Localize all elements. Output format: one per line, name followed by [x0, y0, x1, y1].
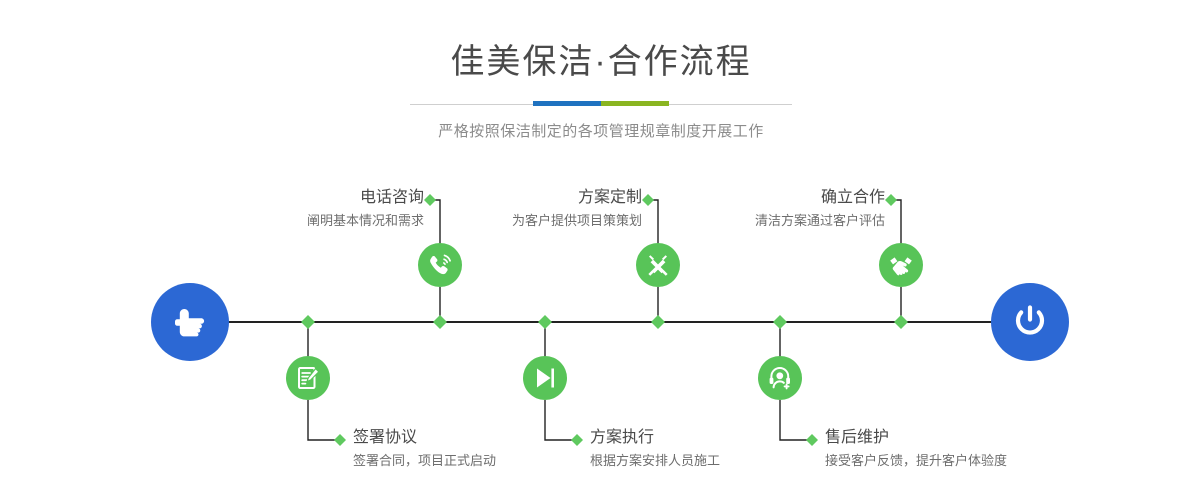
connector-lines [0, 0, 1202, 502]
customer-service-icon [765, 363, 795, 393]
step-node-3[interactable] [636, 243, 680, 287]
step-title: 电话咨询 [174, 188, 424, 208]
play-execute-icon [530, 363, 560, 393]
step-label-4: 方案执行 根据方案安排人员施工 [590, 428, 850, 470]
step-node-6[interactable] [758, 356, 802, 400]
axis-diamond [651, 315, 665, 329]
step-subtitle: 签署合同，项目正式启动 [353, 451, 613, 470]
timeline-diagram: 电话咨询 阐明基本情况和需求 方案定制 为客户提供项目策策划 确立合作 清洁方案… [0, 0, 1202, 502]
axis-diamond [301, 315, 315, 329]
axis-diamond [894, 315, 908, 329]
connector-step-2 [308, 400, 340, 440]
step-subtitle: 清洁方案通过客户评估 [635, 211, 885, 230]
power-icon [1008, 300, 1052, 344]
step-label-3: 方案定制 为客户提供项目策策划 [392, 188, 642, 230]
axis-diamond [773, 315, 787, 329]
step-subtitle: 为客户提供项目策策划 [392, 211, 642, 230]
step-label-6: 售后维护 接受客户反馈，提升客户体验度 [825, 428, 1105, 470]
pointing-hand-icon [168, 300, 212, 344]
step-title: 售后维护 [825, 428, 1105, 448]
step-title: 确立合作 [635, 188, 885, 208]
step-title: 方案定制 [392, 188, 642, 208]
sign-document-icon [293, 363, 323, 393]
process-flow-infographic: 佳美保洁·合作流程 严格按照保洁制定的各项管理规章制度开展工作 [0, 0, 1202, 502]
step-label-2: 签署协议 签署合同，项目正式启动 [353, 428, 613, 470]
step-node-1[interactable] [418, 243, 462, 287]
step-subtitle: 阐明基本情况和需求 [174, 211, 424, 230]
label-diamond-step-2 [334, 434, 346, 446]
flow-start-node[interactable] [151, 283, 229, 361]
step-subtitle: 根据方案安排人员施工 [590, 451, 850, 470]
step-title: 签署协议 [353, 428, 613, 448]
step-node-5[interactable] [879, 243, 923, 287]
label-diamond-step-5 [885, 194, 897, 206]
step-node-2[interactable] [286, 356, 330, 400]
phone-call-icon [425, 250, 455, 280]
label-diamonds [334, 194, 897, 446]
connector-step-5 [891, 200, 901, 244]
step-subtitle: 接受客户反馈，提升客户体验度 [825, 451, 1105, 470]
handshake-icon [886, 250, 916, 280]
design-pencil-icon [643, 250, 673, 280]
step-label-1: 电话咨询 阐明基本情况和需求 [174, 188, 424, 230]
step-title: 方案执行 [590, 428, 850, 448]
axis-diamond [538, 315, 552, 329]
axis-diamond [433, 315, 447, 329]
flow-end-node[interactable] [991, 283, 1069, 361]
step-node-4[interactable] [523, 356, 567, 400]
step-label-5: 确立合作 清洁方案通过客户评估 [635, 188, 885, 230]
